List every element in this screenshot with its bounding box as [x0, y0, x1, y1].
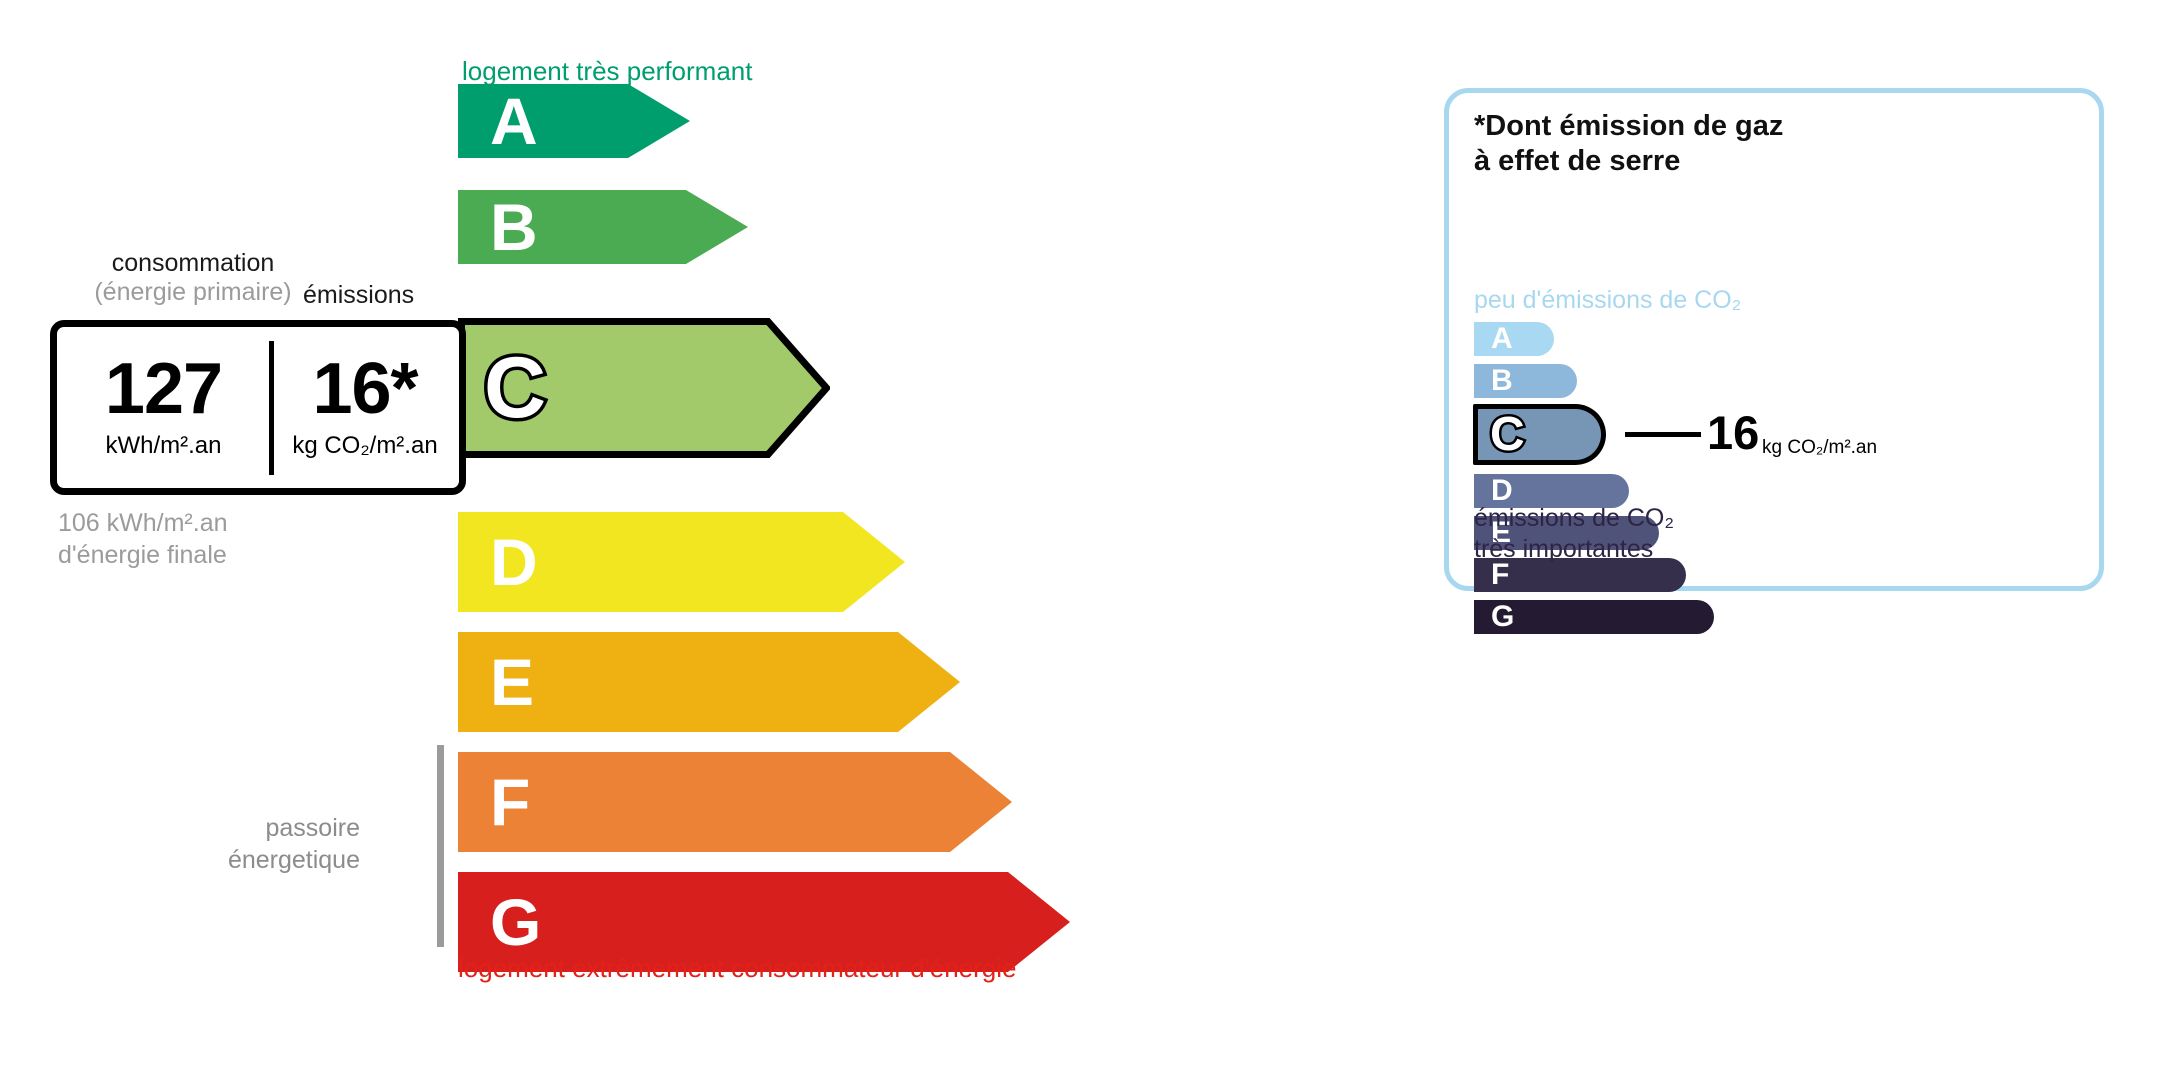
energy-bar-letter-f: F — [490, 769, 530, 835]
energy-bottom-caption: logement extrêmement consommateur d'éner… — [458, 953, 1016, 984]
final-energy-line2: d'énergie finale — [58, 541, 227, 569]
co2-bar-letter-b: B — [1491, 366, 1513, 396]
energy-bar-f: F — [458, 752, 1012, 852]
co2-bar-c: C — [1473, 404, 1606, 465]
energy-bar-b: B — [458, 190, 748, 264]
energy-bar-letter-b: B — [490, 194, 538, 260]
consommation-header: consommation (énergie primaire) — [68, 249, 318, 307]
energy-bar-letter-a: A — [490, 88, 538, 154]
energy-bar-letter-g: G — [490, 889, 541, 955]
co2-value-unit: kg CO₂/m².an — [1762, 437, 1877, 459]
energy-bar-a: A — [458, 84, 690, 158]
dpe-energy-panel: logement très performant ABCDEFG passoir… — [0, 0, 1400, 1079]
passoire-line1: passoire — [266, 814, 361, 842]
co2-bottom-line1: émissions de CO₂ — [1474, 504, 1674, 532]
passoire-label: passoire énergetique — [190, 813, 360, 876]
co2-bar-letter-d: D — [1491, 476, 1513, 506]
co2-top-caption: peu d'émissions de CO₂ — [1474, 286, 1741, 315]
emission-cell: 16* kg CO₂/m².an — [270, 327, 460, 488]
co2-value: 16 — [1707, 409, 1759, 456]
passoire-rule — [437, 745, 444, 947]
emission-value: 16* — [312, 355, 417, 423]
co2-bar-g: G — [1474, 600, 1714, 634]
co2-bar-letter-g: G — [1491, 602, 1514, 632]
primary-energy-unit: kWh/m².an — [105, 432, 221, 460]
co2-title-line1: *Dont émission de gaz — [1474, 110, 1783, 142]
co2-panel: *Dont émission de gaz à effet de serre p… — [1444, 88, 2104, 591]
final-energy-line1: 106 kWh/m².an — [58, 509, 228, 537]
energie-primaire-label: (énergie primaire) — [68, 278, 318, 307]
energy-bar-shape-f — [458, 752, 1012, 852]
co2-bar-b: B — [1474, 364, 1577, 398]
emission-unit: kg CO₂/m².an — [292, 432, 437, 460]
energy-bar-e: E — [458, 632, 960, 732]
co2-bottom-line2: très importantes — [1474, 535, 1653, 563]
energy-bar-letter-c: C — [484, 345, 546, 431]
energy-bar-letter-d: D — [490, 529, 538, 595]
energy-bar-d: D — [458, 512, 905, 612]
co2-leader-line — [1625, 432, 1701, 437]
co2-bar-letter-f: F — [1491, 560, 1509, 590]
final-energy-note: 106 kWh/m².an d'énergie finale — [58, 508, 228, 571]
co2-bar-a: A — [1474, 322, 1554, 356]
emissions-header: émissions — [303, 281, 414, 310]
energy-bar-c: C — [458, 318, 830, 458]
energy-bar-letter-e: E — [490, 649, 534, 715]
passoire-line2: énergetique — [228, 846, 360, 874]
co2-bottom-caption: émissions de CO₂ très importantes — [1474, 503, 1674, 564]
primary-energy-cell: 127 kWh/m².an — [57, 327, 270, 488]
consommation-label: consommation — [112, 249, 275, 277]
energy-value-box: 127 kWh/m².an 16* kg CO₂/m².an — [50, 320, 466, 495]
co2-bar-letter-c: C — [1490, 411, 1525, 459]
co2-title-line2: à effet de serre — [1474, 145, 1680, 177]
co2-title: *Dont émission de gaz à effet de serre — [1474, 109, 1783, 180]
primary-energy-value: 127 — [105, 355, 222, 423]
co2-bar-letter-a: A — [1491, 324, 1513, 354]
